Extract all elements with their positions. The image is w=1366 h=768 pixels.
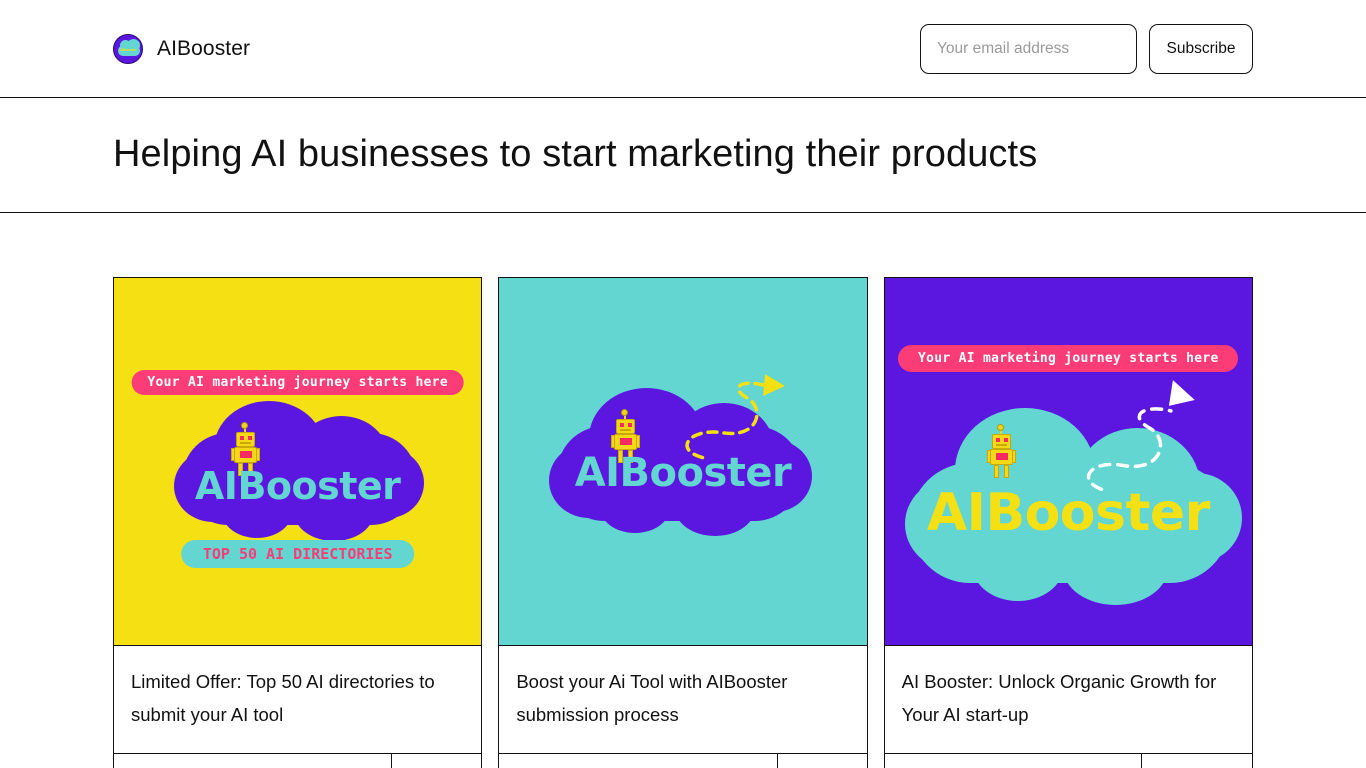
card-meta: Available $19 bbox=[114, 754, 481, 768]
site-header: AIBooster AIBooster Subscribe bbox=[0, 0, 1366, 98]
cloud-wordmark: AIBooster bbox=[575, 450, 792, 496]
art-badge: Your AI marketing journey starts here bbox=[898, 345, 1238, 372]
cloud-wordmark: AIBooster bbox=[927, 483, 1210, 543]
page-title: Helping AI businesses to start marketing… bbox=[113, 133, 1037, 177]
card-title: AI Booster: Unlock Organic Growth for Yo… bbox=[885, 646, 1252, 754]
card-meta: Available $47 bbox=[499, 754, 866, 768]
product-card[interactable]: Your AI marketing journey starts here AI… bbox=[113, 277, 482, 768]
card-artwork: Your AI marketing journey starts here AI… bbox=[114, 278, 481, 646]
card-meta: Available $79.00 bbox=[885, 754, 1252, 768]
art-badge: Your AI marketing journey starts here bbox=[131, 370, 464, 395]
logo-inner-text: AIBooster bbox=[119, 47, 136, 52]
card-artwork: Your AI marketing journey starts here AI… bbox=[885, 278, 1252, 646]
hero-section: Helping AI businesses to start marketing… bbox=[0, 98, 1366, 213]
card-artwork: AIBooster bbox=[499, 278, 866, 646]
subscribe-form: Subscribe bbox=[920, 24, 1253, 74]
brand-logo-link[interactable]: AIBooster AIBooster bbox=[113, 34, 250, 64]
card-status: Available bbox=[114, 754, 392, 768]
card-price-wrap: $47 bbox=[778, 758, 867, 768]
card-title: Boost your Ai Tool with AIBooster submis… bbox=[499, 646, 866, 754]
card-price-wrap: $19 bbox=[392, 758, 481, 768]
product-card[interactable]: AIBooster Boost your Ai Tool with AIBoos… bbox=[498, 277, 867, 768]
card-status: Available bbox=[499, 754, 777, 768]
card-status: Available bbox=[885, 754, 1142, 768]
brand-name: AIBooster bbox=[157, 37, 250, 61]
art-pill-badge: TOP 50 AI DIRECTORIES bbox=[181, 540, 415, 568]
cloud-logo-icon: AIBooster bbox=[113, 34, 143, 64]
product-card-grid: Your AI marketing journey starts here AI… bbox=[0, 213, 1366, 768]
cloud-lobe bbox=[973, 533, 1063, 601]
card-price-wrap: $79.00 bbox=[1142, 758, 1252, 768]
email-field[interactable] bbox=[920, 24, 1137, 74]
card-title: Limited Offer: Top 50 AI directories to … bbox=[114, 646, 481, 754]
subscribe-button[interactable]: Subscribe bbox=[1149, 24, 1253, 74]
cloud-wordmark: AIBooster bbox=[195, 464, 401, 508]
product-card[interactable]: Your AI marketing journey starts here AI… bbox=[884, 277, 1253, 768]
